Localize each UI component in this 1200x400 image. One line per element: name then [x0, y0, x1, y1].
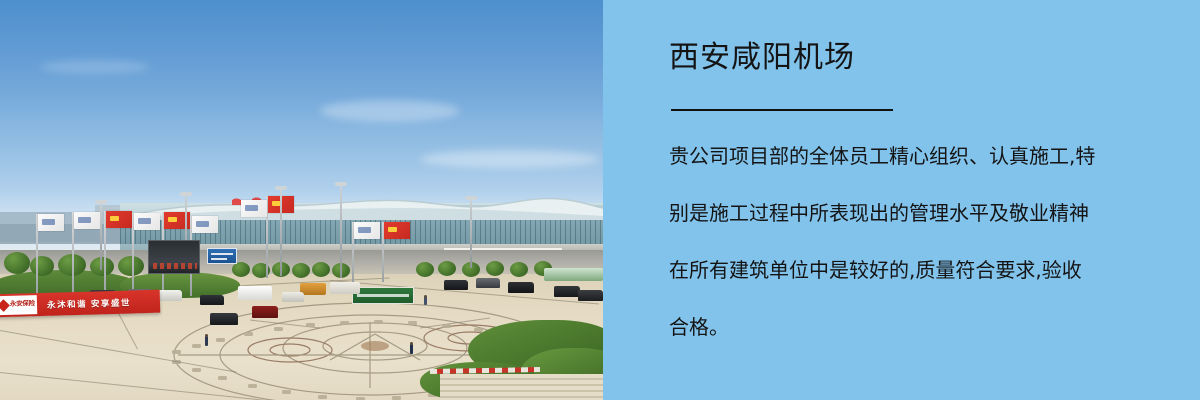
tree	[510, 262, 528, 277]
parked-car	[200, 295, 224, 305]
corporate-flag	[241, 200, 267, 217]
testimonial-line: 别是施工过程中所表现出的管理水平及敬业精神	[669, 185, 1146, 242]
shuttle-bus	[238, 286, 272, 300]
shuttle-bus	[300, 283, 326, 295]
tree	[416, 262, 434, 277]
parked-car	[476, 278, 500, 288]
light-mast	[100, 200, 102, 270]
parked-car	[210, 313, 238, 325]
diamond-icon	[0, 299, 10, 312]
parked-car	[444, 280, 468, 290]
parked-car	[508, 282, 534, 293]
pedestrian	[205, 336, 208, 346]
tree	[118, 256, 144, 276]
corporate-flag	[354, 222, 380, 239]
led-display-screen	[148, 240, 200, 274]
parked-car	[252, 306, 278, 318]
tree	[438, 261, 456, 276]
parked-car	[554, 286, 580, 297]
roof-ornament	[232, 194, 241, 205]
light-mast	[470, 196, 472, 268]
promo-banner-root: 永安保险 永沐和谐 安享盛世 西安咸阳机场 贵公司项目部的全体员工精心组织、认真…	[0, 0, 1200, 400]
tree	[486, 261, 504, 276]
yongan-insurance-logo: 永安保险	[0, 295, 37, 315]
testimonial-content: 西安咸阳机场 贵公司项目部的全体员工精心组织、认真施工,特 别是施工过程中所表现…	[669, 0, 1146, 400]
promo-logo-text: 永安保险	[10, 301, 35, 308]
tree	[4, 252, 30, 274]
tree	[90, 257, 114, 276]
parked-car	[282, 292, 304, 302]
shuttle-bus	[544, 268, 578, 281]
cloud-wisp	[320, 100, 460, 122]
directional-road-sign	[207, 248, 237, 264]
pedestrian	[424, 297, 427, 305]
testimonial-line: 合格。	[669, 299, 1146, 356]
shuttle-bus	[576, 268, 603, 281]
testimonial-line: 贵公司项目部的全体员工精心组织、认真施工,特	[669, 128, 1146, 185]
tree	[312, 262, 330, 277]
tree	[232, 262, 250, 277]
corporate-flag	[74, 212, 100, 229]
green-billboard	[352, 287, 414, 304]
shuttle-bus	[330, 282, 360, 294]
light-mast	[340, 182, 342, 278]
promo-slogan-text: 永沐和谐 安享盛世	[47, 296, 131, 310]
airport-photo: 永安保险 永沐和谐 安享盛世	[0, 0, 603, 400]
national-flag	[106, 211, 132, 228]
testimonial-panel: 西安咸阳机场 贵公司项目部的全体员工精心组织、认真施工,特 别是施工过程中所表现…	[603, 0, 1200, 400]
title-divider	[671, 109, 893, 111]
insurance-promo-banner: 永安保险 永沐和谐 安享盛世	[0, 290, 160, 318]
pedestrian	[410, 344, 413, 354]
tree	[292, 263, 310, 278]
plaza-steps	[440, 374, 603, 400]
cloud-wisp	[420, 150, 600, 168]
parked-car	[578, 290, 603, 301]
cloud-wisp	[40, 60, 150, 74]
testimonial-line: 在所有建筑单位中是较好的,质量符合要求,验收	[669, 242, 1146, 299]
tree	[30, 256, 54, 276]
corporate-flag	[134, 213, 160, 230]
corporate-flag	[38, 214, 64, 231]
light-mast	[280, 186, 282, 276]
testimonial-body: 贵公司项目部的全体员工精心组织、认真施工,特 别是施工过程中所表现出的管理水平及…	[669, 128, 1146, 356]
page-title: 西安咸阳机场	[669, 40, 855, 76]
national-flag	[384, 222, 410, 239]
corporate-flag	[192, 216, 218, 233]
